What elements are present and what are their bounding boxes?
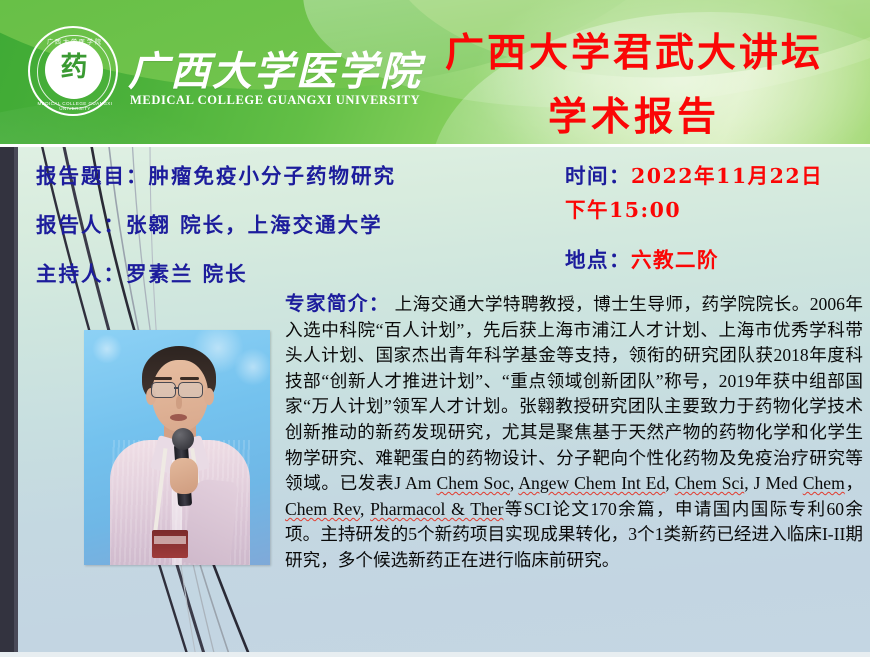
host-row: 主持人：罗素兰 院长 [36,257,556,287]
speaker-bio: 专家简介： 上海交通大学特聘教授，博士生导师，药学院院长。2006年入选中科院“… [285,291,863,574]
place-label: 地点： [565,248,631,272]
host-value: 罗素兰 院长 [126,262,248,286]
poster-root: 广西大学医学院 药 2016 MEDICAL COLLEGE GUANGXI U… [0,0,870,657]
photo-glasses-left [151,382,176,398]
journal-pharmacol-ther: Pharmacol & Ther [370,499,503,519]
poster-title-line1: 广西大学君武大讲坛 [398,22,870,78]
topic-row: 报告题目：肿瘤免疫小分子药物研究 [36,159,556,189]
photo-ear-right [204,388,214,405]
time-value-2: 下午15:00 [565,198,681,222]
bottom-edge-strip [0,652,870,657]
poster-header: 广西大学医学院 药 2016 MEDICAL COLLEGE GUANGXI U… [0,0,870,144]
photo-mouth [170,414,187,421]
photo-badge [152,530,188,558]
university-logo: 广西大学医学院 药 2016 MEDICAL COLLEGE GUANGXI U… [28,26,388,122]
photo-microphone-head [172,428,194,450]
bio-paragraph-1: 上海交通大学特聘教授，博士生导师，药学院院长。2006年入选中科院“百人计划”，… [285,294,863,493]
host-label: 主持人： [36,262,126,286]
place-value: 六教二阶 [631,248,719,272]
speaker-row: 报告人：张翱 院长，上海交通大学 [36,208,556,238]
journal-chem-sci: Chem Sci [675,473,745,493]
speaker-label: 报告人： [36,213,126,237]
bio-sep-3: , J Med [744,473,803,493]
poster-title-line2: 学术报告 [398,86,870,142]
topic-label: 报告题目： [36,164,149,188]
seal-bottom-text: MEDICAL COLLEGE GUANGXI UNIVERSITY [30,101,120,111]
event-info-right: 时间：2022年11月22日 下午15:00 地点：六教二阶 [565,159,865,277]
journal-chem-soc: Chem Soc [436,473,509,493]
photo-bokeh-3 [92,334,122,364]
left-accent-bar-highlight [14,147,18,657]
photo-brow-left [153,377,172,380]
speaker-photo [84,330,270,565]
time-value: 2022年11月22日 [631,164,823,188]
logo-name-cn: 广西大学医学院 [128,39,422,97]
bio-sep-5: , [360,499,370,519]
seal-year: 2016 [30,88,120,97]
poster-body: 报告题目：肿瘤免疫小分子药物研究 报告人：张翱 院长，上海交通大学 主持人：罗素… [0,147,870,657]
event-info-left: 报告题目：肿瘤免疫小分子药物研究 报告人：张翱 院长，上海交通大学 主持人：罗素… [36,159,556,306]
photo-badge-text [154,536,186,544]
time-label: 时间： [565,164,631,188]
photo-hand [170,458,198,494]
speaker-value: 张翱 院长，上海交通大学 [126,213,383,237]
seal-icon: 广西大学医学院 药 2016 MEDICAL COLLEGE GUANGXI U… [28,26,118,116]
photo-brow-right [180,377,199,380]
photo-nose [176,396,182,409]
bio-sep-4: ， [845,473,863,493]
bio-sep-2: , [665,473,674,493]
photo-glasses-bridge [174,387,178,389]
photo-glasses-right [178,382,203,398]
time-row: 时间：2022年11月22日 [565,159,865,189]
journal-chem-rev: Chem Rev [285,499,360,519]
bio-heading: 专家简介： [285,292,390,315]
time-row-2: 下午15:00 [565,193,865,223]
journal-angew-chem-int-ed: Angew Chem Int Ed [518,473,665,493]
logo-name-en: MEDICAL COLLEGE GUANGXI UNIVERSITY [130,93,420,108]
seal-glyph: 药 [45,45,103,91]
photo-bokeh-2 [234,348,270,386]
journal-chem: Chem [803,473,845,493]
topic-value: 肿瘤免疫小分子药物研究 [149,164,397,188]
place-row: 地点：六教二阶 [565,243,865,273]
